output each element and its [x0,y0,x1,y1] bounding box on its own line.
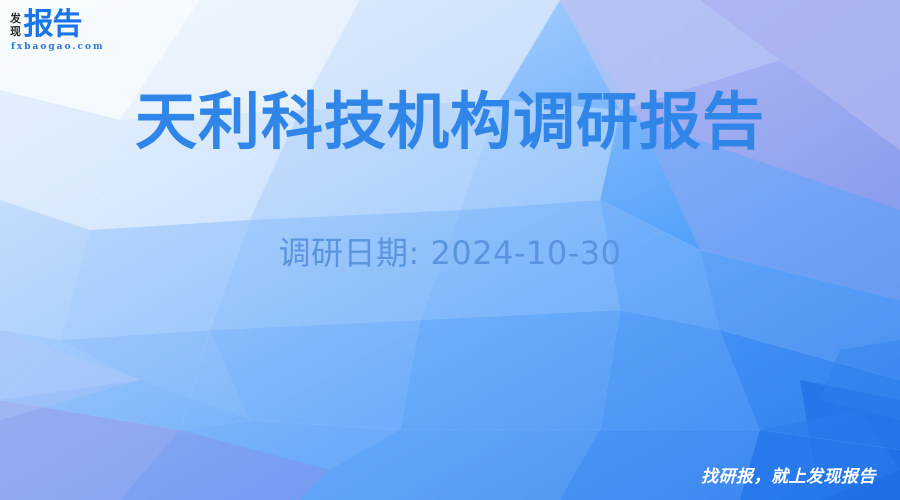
survey-date-subtitle: 调研日期: 2024-10-30 [0,232,900,274]
logo-wordmark: 报告 [24,10,82,40]
brand-logo[interactable]: 发 现 报告 fxbaogao.com [10,8,160,56]
page-title: 天利科技机构调研报告 [0,86,900,158]
title-slide: 发 现 报告 fxbaogao.com 天利科技机构调研报告 调研日期: 202… [0,0,900,500]
footer-tagline: 找研报，就上发现报告 [701,466,876,488]
title-block: 天利科技机构调研报告 [0,86,900,158]
logo-row: 发 现 报告 [10,8,160,40]
logo-mark-bottom: 现 [10,25,21,38]
logo-mark-top: 发 [10,12,21,25]
logo-mark-stack: 发 现 [10,10,21,40]
logo-domain-text: fxbaogao.com [10,42,160,52]
